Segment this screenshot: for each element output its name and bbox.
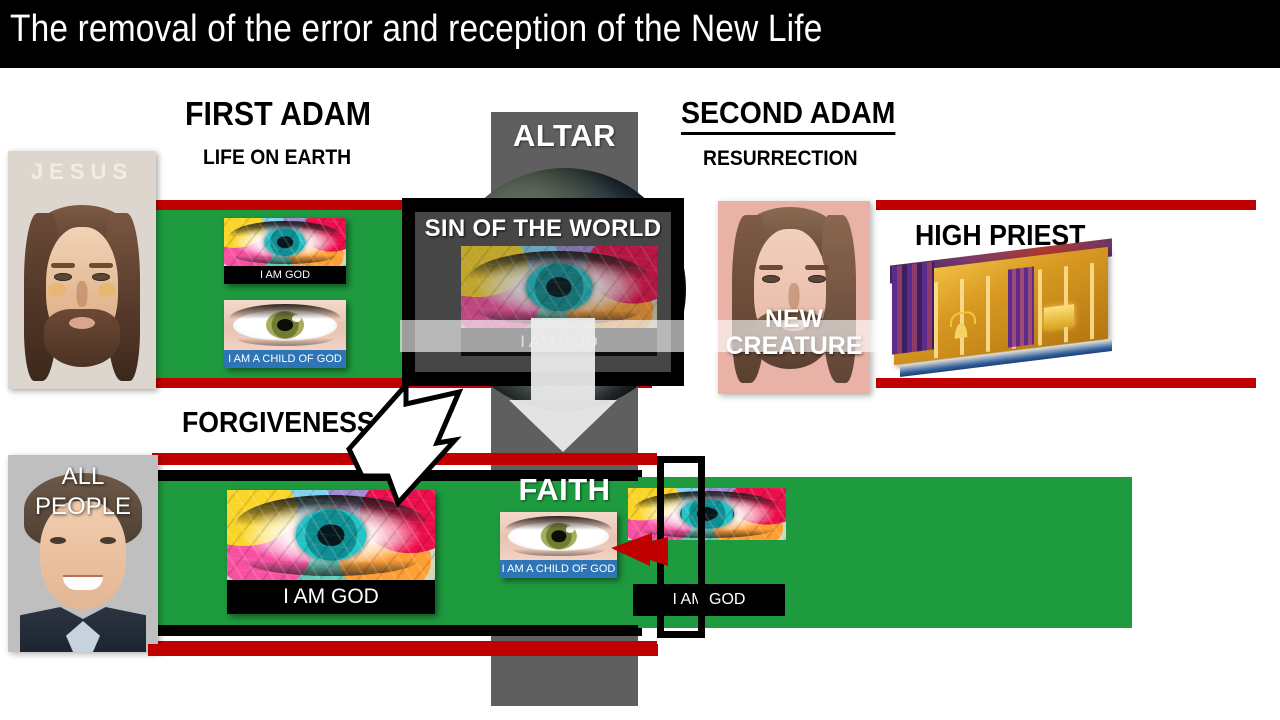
faith-real-eye-image <box>500 512 617 560</box>
large-mosaic-eye-image <box>227 490 435 580</box>
new-creature-card <box>718 201 870 394</box>
header-forgiveness: FORGIVENESS <box>182 407 375 440</box>
eye-card-real-child-of-god: I AM A CHILD OF GOD <box>224 300 346 368</box>
strike-out-top-cap <box>657 456 705 463</box>
all-people-label: ALL PEOPLE <box>8 462 158 522</box>
sin-of-the-world-label: SIN OF THE WORLD <box>402 215 684 243</box>
eye-caption-child-of-god: I AM A CHILD OF GOD <box>224 350 346 368</box>
mosaic-eye-image <box>224 218 346 266</box>
high-priest-red-bar-lower <box>876 378 1256 388</box>
tabernacle-icon <box>876 250 1128 368</box>
new-creature-face-illustration <box>734 207 854 393</box>
strike-out-bottom-cap <box>657 631 705 638</box>
header-second-adam-subtitle: RESURRECTION <box>703 147 858 171</box>
altar-white-overlay-band <box>400 320 890 352</box>
high-priest-red-bar-upper <box>876 200 1256 210</box>
bottom-red-bar-upper <box>152 453 657 465</box>
struck-out-caption-bar: I AM GOD <box>633 584 785 616</box>
strike-out-icon <box>657 456 705 638</box>
faith-eye-caption: I AM A CHILD OF GOD <box>500 560 617 578</box>
altar-bottom-red-bar <box>148 644 658 656</box>
faith-label: FAITH <box>491 472 638 508</box>
struck-out-caption: I AM GOD <box>633 584 785 616</box>
jesus-face-illustration <box>26 205 138 383</box>
eye-caption-i-am-god: I AM GOD <box>224 266 346 284</box>
all-people-label-line2: PEOPLE <box>35 493 131 520</box>
altar-label: ALTAR <box>491 118 638 154</box>
header-second-adam: SECOND ADAM <box>681 95 895 135</box>
header-first-adam: FIRST ADAM <box>185 95 371 133</box>
header-first-adam-subtitle: LIFE ON EARTH <box>203 146 351 170</box>
eye-card-faith-child-of-god: I AM A CHILD OF GOD <box>500 512 617 578</box>
eye-card-struck-out <box>628 488 786 540</box>
real-eye-image <box>224 300 346 350</box>
large-eye-caption: I AM GOD <box>227 580 435 614</box>
jesus-portrait-card: JESUS <box>8 151 156 389</box>
page-title: The removal of the error and reception o… <box>10 8 823 51</box>
eye-card-large-i-am-god: I AM GOD <box>227 490 435 614</box>
slide-canvas: The removal of the error and reception o… <box>0 0 1280 720</box>
jesus-card-label: JESUS <box>8 159 156 185</box>
title-bar: The removal of the error and reception o… <box>0 0 1280 68</box>
eye-card-mosaic-i-am-god: I AM GOD <box>224 218 346 284</box>
all-people-label-line1: ALL <box>62 463 105 490</box>
bottom-black-bar-lower <box>152 625 642 636</box>
struck-out-mosaic-eye-image <box>628 488 786 540</box>
altar-mosaic-eye-image <box>461 246 657 328</box>
